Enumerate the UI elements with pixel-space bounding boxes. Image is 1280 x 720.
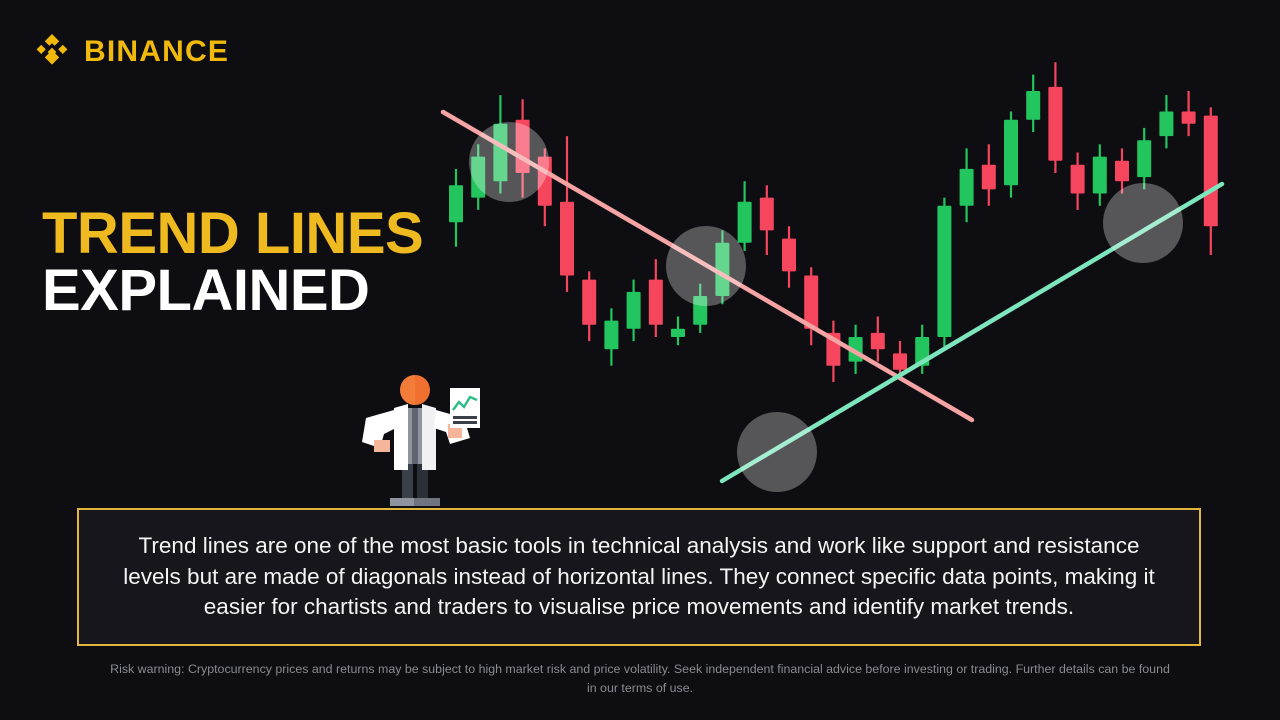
- analyst-character-illustration: [350, 362, 480, 510]
- candle-body: [1182, 112, 1196, 124]
- candle-body: [1137, 140, 1151, 177]
- candle-body: [582, 280, 596, 325]
- touch-point-3: [737, 412, 817, 492]
- callout-body-text: Trend lines are one of the most basic to…: [111, 531, 1167, 623]
- candle-body: [960, 169, 974, 206]
- slide-canvas: BINANCE TREND LINES EXPLAINED: [0, 0, 1280, 720]
- candle-body: [871, 333, 885, 349]
- candle-body: [1159, 112, 1173, 137]
- candle-body: [560, 202, 574, 276]
- title-line-2: EXPLAINED: [42, 263, 423, 320]
- candle-body: [760, 198, 774, 231]
- binance-wordmark: BINANCE: [84, 37, 229, 67]
- touch-point-2: [666, 226, 746, 306]
- explanation-callout-box: Trend lines are one of the most basic to…: [77, 508, 1201, 646]
- candle-body: [804, 276, 818, 329]
- candle-series: [449, 62, 1218, 382]
- candle-body: [1048, 87, 1062, 161]
- touch-point-1: [469, 122, 549, 202]
- page-title: TREND LINES EXPLAINED: [42, 206, 423, 320]
- candle-body: [604, 321, 618, 350]
- candle-body: [893, 353, 907, 369]
- candle-body: [1204, 116, 1218, 227]
- candle-body: [449, 185, 463, 222]
- candle-body: [782, 239, 796, 272]
- candle-body: [1026, 91, 1040, 120]
- binance-diamond-icon: [32, 32, 72, 72]
- candle-body: [1071, 165, 1085, 194]
- candle-body: [1115, 161, 1129, 182]
- candle-body: [1004, 120, 1018, 186]
- candlestick-chart-illustration: [430, 20, 1240, 500]
- risk-warning-text: Risk warning: Cryptocurrency prices and …: [110, 660, 1170, 697]
- binance-logo: BINANCE: [32, 32, 229, 72]
- candle-body: [738, 202, 752, 243]
- candle-body: [627, 292, 641, 329]
- candle-body: [982, 165, 996, 190]
- candle-body: [649, 280, 663, 325]
- candle-body: [1093, 157, 1107, 194]
- touch-point-4: [1103, 183, 1183, 263]
- candle-body: [671, 329, 685, 337]
- candle-body: [937, 206, 951, 337]
- title-line-1: TREND LINES: [42, 206, 423, 263]
